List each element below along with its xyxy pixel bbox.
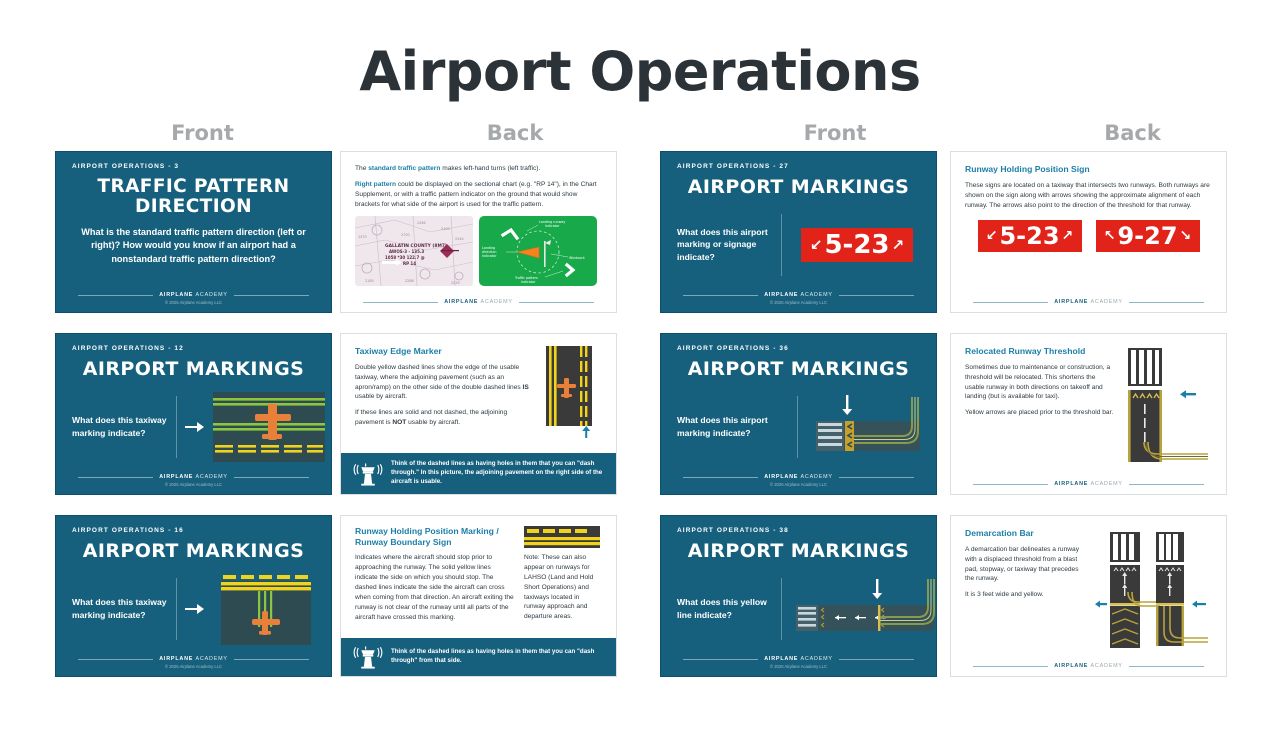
footer-rule-right <box>519 302 594 303</box>
arrow-left-down-icon: ↙ <box>986 228 998 244</box>
page-title: Airport Operations <box>0 0 1280 103</box>
grid-gap <box>625 515 660 677</box>
runway-holding-position-sign: ↙ 5-23 ↗ <box>801 228 913 262</box>
tip-text: Think of the dashed lines as having hole… <box>391 460 604 487</box>
brand-logo: AIRPLANE ACADEMY <box>764 474 833 480</box>
figure-demarcation-bar-pair <box>1094 528 1212 652</box>
taxiway-edge-marking-diagram <box>213 392 325 462</box>
copyright: © 2025 Airplane Academy LLC <box>56 300 331 305</box>
card-question: What does this taxiway marking indicate? <box>72 414 168 438</box>
card-ao-3-back[interactable]: The standard traffic pattern makes left-… <box>340 151 617 313</box>
arrow-left-icon <box>1095 601 1107 608</box>
card-question: What does this airport marking indicate? <box>677 414 789 438</box>
footer-rule-right <box>234 477 309 478</box>
svg-text:2288: 2288 <box>405 279 414 283</box>
tip-text: Think of the dashed lines as having hole… <box>391 648 604 666</box>
footer-rule-left <box>683 477 758 478</box>
card-title: AIRPORT MARKINGS <box>661 359 936 380</box>
figure-relocated-threshold <box>806 391 926 463</box>
column-header-front-1: Front <box>50 121 355 145</box>
card-question: What does this yellow line indicate? <box>677 596 773 620</box>
brand-logo: AIRPLANE ACADEMY <box>764 292 833 298</box>
card-kicker: AIRPORT OPERATIONS - 38 <box>661 516 936 534</box>
footer-rule-left <box>683 295 758 296</box>
back-paragraph-2: If these lines are solid and not dashed,… <box>355 408 532 428</box>
svg-text:indicator: indicator <box>482 254 497 258</box>
relocated-runway-threshold-diagram <box>1124 346 1210 470</box>
svg-text:1370: 1370 <box>358 235 367 239</box>
column-header-front-2: Front <box>690 121 980 145</box>
footer-rule-left <box>973 302 1048 303</box>
tip-banner: Think of the dashed lines as having hole… <box>341 453 616 494</box>
figure-taxiway-edge-vertical <box>540 346 602 438</box>
figure-holding-position-marking <box>213 573 319 645</box>
svg-text:indicator: indicator <box>545 224 560 228</box>
footer-rule-right <box>234 295 309 296</box>
back-heading: Demarcation Bar <box>965 528 1088 539</box>
figure-sign-row: ↙ 5-23 ↗ ↖ 9-27 ↘ <box>951 216 1226 252</box>
card-ao-3-front[interactable]: AIRPORT OPERATIONS - 3 TRAFFIC PATTERN D… <box>55 151 332 313</box>
svg-text:AWOS-3 - 135.3: AWOS-3 - 135.3 <box>389 249 424 254</box>
footer-rule-right <box>234 659 309 660</box>
card-footer: AIRPLANE ACADEMY © 2025 Airplane Academy… <box>56 474 331 487</box>
footer-rule-right <box>1129 484 1204 485</box>
footer-rule-right <box>1129 302 1204 303</box>
card-ao-12-back[interactable]: Taxiway Edge Marker Double yellow dashed… <box>340 333 617 495</box>
card-footer: AIRPLANE ACADEMY © 2025 Airplane Academy… <box>661 656 936 669</box>
footer-rule-left <box>78 477 153 478</box>
brand-logo: AIRPLANE ACADEMY <box>1054 663 1123 669</box>
demarcation-bar-diagram <box>1094 528 1210 652</box>
footer-rule-left <box>973 666 1048 667</box>
card-kicker: AIRPORT OPERATIONS - 3 <box>56 152 331 170</box>
card-title: AIRPORT MARKINGS <box>56 359 331 380</box>
copyright: © 2025 Airplane Academy LLC <box>56 482 331 487</box>
footer-rule-left <box>78 659 153 660</box>
card-question: What does this airport marking or signag… <box>677 226 773 263</box>
back-paragraph-1: Double yellow dashed lines show the edge… <box>355 363 532 403</box>
copyright: © 2025 Airplane Academy LLC <box>661 664 936 669</box>
back-heading: Runway Holding Position Marking / Runway… <box>355 526 514 547</box>
footer-rule-right <box>1129 666 1204 667</box>
arrow-left-down-icon: ↙ <box>810 236 823 254</box>
card-ao-16-back[interactable]: Runway Holding Position Marking / Runway… <box>340 515 617 677</box>
relocated-threshold-diagram <box>806 391 926 463</box>
divider <box>797 396 798 458</box>
control-tower-icon <box>353 462 383 486</box>
svg-text:indicator: indicator <box>521 280 536 284</box>
card-footer: AIRPLANE ACADEMY <box>951 299 1226 305</box>
control-tower-icon <box>353 645 383 669</box>
sign-text: 9-27 <box>1117 224 1177 248</box>
back-paragraph-1: The standard traffic pattern makes left-… <box>355 164 602 174</box>
card-kicker: AIRPORT OPERATIONS - 12 <box>56 334 331 352</box>
card-ao-16-front[interactable]: AIRPORT OPERATIONS - 16 AIRPORT MARKINGS… <box>55 515 332 677</box>
grid-gap <box>625 333 660 495</box>
footer-rule-left <box>363 302 438 303</box>
svg-text:2229: 2229 <box>451 281 460 285</box>
arrow-right-icon <box>185 604 205 614</box>
divider <box>781 578 782 640</box>
brand-logo: AIRPLANE ACADEMY <box>764 656 833 662</box>
back-paragraph-2: It is 3 feet wide and yellow. <box>965 590 1088 600</box>
card-footer: AIRPLANE ACADEMY <box>951 481 1226 487</box>
card-ao-38-front[interactable]: AIRPORT OPERATIONS - 38 AIRPORT MARKINGS… <box>660 515 937 677</box>
card-ao-38-back[interactable]: Demarcation Bar A demarcation bar deline… <box>950 515 1227 677</box>
column-header-back-2: Back <box>980 121 1280 145</box>
arrow-right-down-icon: ↘ <box>1180 228 1192 244</box>
copyright: © 2025 Airplane Academy LLC <box>56 664 331 669</box>
footer-rule-left <box>78 295 153 296</box>
back-paragraph-1: Indicates where the aircraft should stop… <box>355 553 514 622</box>
svg-text:Windsock: Windsock <box>569 256 585 260</box>
svg-text:1058 *30 122.7 @: 1058 *30 122.7 @ <box>385 255 425 260</box>
card-kicker: AIRPORT OPERATIONS - 16 <box>56 516 331 534</box>
footer-rule-right <box>839 477 914 478</box>
back-paragraph-2: Right pattern could be displayed on the … <box>355 180 602 210</box>
svg-text:2244: 2244 <box>455 237 464 241</box>
divider <box>176 578 177 640</box>
brand-logo: AIRPLANE ACADEMY <box>1054 481 1123 487</box>
figure-row: 137022642100 270022442185 22882229 GALLA… <box>341 216 616 286</box>
figure-runway-sign: ↙ 5-23 ↗ <box>790 228 924 262</box>
svg-text:RP 14: RP 14 <box>403 261 416 266</box>
card-footer: AIRPLANE ACADEMY © 2025 Airplane Academy… <box>661 474 936 487</box>
footer-rule-right <box>839 659 914 660</box>
footer-rule-right <box>839 295 914 296</box>
arrow-down-icon <box>842 395 852 415</box>
svg-text:2185: 2185 <box>365 279 374 283</box>
arrow-right-icon <box>185 422 205 432</box>
back-paragraph-2: Yellow arrows are placed prior to the th… <box>965 408 1116 418</box>
divider <box>781 214 782 276</box>
arrow-down-icon <box>872 579 882 599</box>
card-title: AIRPORT MARKINGS <box>661 177 936 198</box>
footer-rule-left <box>683 659 758 660</box>
runway-holding-position-sign-9-27: ↖ 9-27 ↘ <box>1096 220 1200 252</box>
brand-logo: AIRPLANE ACADEMY <box>444 299 513 305</box>
yellow-line-diagram <box>790 573 937 645</box>
copyright: © 2025 Airplane Academy LLC <box>661 482 936 487</box>
sectional-chart-figure: 137022642100 270022442185 22882229 GALLA… <box>355 216 473 286</box>
card-footer: AIRPLANE ACADEMY <box>341 299 616 305</box>
card-ao-36-back[interactable]: Relocated Runway Threshold Sometimes due… <box>950 333 1227 495</box>
arrow-up-icon <box>582 426 590 438</box>
footer-rule-left <box>973 484 1048 485</box>
figure-taxiway-edge-marking <box>213 392 325 462</box>
back-paragraph-1: A demarcation bar delineates a runway wi… <box>965 545 1088 585</box>
card-title: TRAFFIC PATTERN DIRECTION <box>56 177 331 217</box>
figure-relocated-threshold-vertical <box>1124 346 1212 470</box>
card-ao-27-front[interactable]: AIRPORT OPERATIONS - 27 AIRPORT MARKINGS… <box>660 151 937 313</box>
arrow-left-icon <box>1192 601 1206 608</box>
arrow-right-up-icon: ↗ <box>892 236 905 254</box>
divider <box>176 396 177 458</box>
card-kicker: AIRPORT OPERATIONS - 27 <box>661 152 936 170</box>
tip-banner: Think of the dashed lines as having hole… <box>341 638 616 676</box>
back-paragraph-1: Sometimes due to maintenance or construc… <box>965 363 1116 403</box>
card-prompt: What is the standard traffic pattern dir… <box>56 217 331 266</box>
card-footer: AIRPLANE ACADEMY © 2025 Airplane Academy… <box>661 292 936 305</box>
arrow-left-up-icon: ↖ <box>1104 228 1116 244</box>
brand-logo: AIRPLANE ACADEMY <box>159 656 228 662</box>
segmented-circle-figure: Landing runwayindicator Landingdirection… <box>479 216 597 286</box>
svg-text:2100: 2100 <box>441 227 450 231</box>
figure-demarcation-line <box>790 573 937 645</box>
card-footer: AIRPLANE ACADEMY <box>951 663 1226 669</box>
column-headers: Front Back Front Back <box>0 121 1280 145</box>
card-ao-12-front[interactable]: AIRPORT OPERATIONS - 12 AIRPORT MARKINGS… <box>55 333 332 495</box>
brand-logo: AIRPLANE ACADEMY <box>159 292 228 298</box>
sign-text: 5-23 <box>999 224 1059 248</box>
card-grid: AIRPORT OPERATIONS - 3 TRAFFIC PATTERN D… <box>0 151 1280 677</box>
arrow-right-up-icon: ↗ <box>1062 228 1074 244</box>
brand-logo: AIRPLANE ACADEMY <box>159 474 228 480</box>
flashcard-sheet: Airport Operations Front Back Front Back… <box>0 0 1280 744</box>
svg-text:2700: 2700 <box>401 233 410 237</box>
back-heading: Taxiway Edge Marker <box>355 346 532 357</box>
card-kicker: AIRPORT OPERATIONS - 36 <box>661 334 936 352</box>
back-heading: Runway Holding Position Sign <box>965 164 1212 175</box>
holding-position-marking-diagram <box>221 573 311 645</box>
back-side-note: Note: These can also appear on runways f… <box>524 553 602 622</box>
card-title: AIRPORT MARKINGS <box>661 541 936 562</box>
back-paragraph-1: These signs are located on a taxiway tha… <box>965 181 1212 211</box>
svg-text:2264: 2264 <box>417 221 426 225</box>
card-footer: AIRPLANE ACADEMY © 2025 Airplane Academy… <box>56 292 331 305</box>
card-ao-27-back[interactable]: Runway Holding Position Sign These signs… <box>950 151 1227 313</box>
sign-text: 5-23 <box>824 232 889 258</box>
runway-holding-position-sign-5-23: ↙ 5-23 ↗ <box>978 220 1082 252</box>
card-ao-36-front[interactable]: AIRPORT OPERATIONS - 36 AIRPORT MARKINGS… <box>660 333 937 495</box>
copyright: © 2025 Airplane Academy LLC <box>661 300 936 305</box>
runway-boundary-sign-figure <box>524 526 600 548</box>
arrow-left-icon <box>1180 390 1196 398</box>
back-heading: Relocated Runway Threshold <box>965 346 1116 357</box>
card-question: What does this taxiway marking indicate? <box>72 596 168 620</box>
card-title: AIRPORT MARKINGS <box>56 541 331 562</box>
grid-gap <box>625 151 660 313</box>
card-footer: AIRPLANE ACADEMY © 2025 Airplane Academy… <box>56 656 331 669</box>
column-header-back-1: Back <box>355 121 675 145</box>
taxiway-edge-marker-diagram <box>540 346 598 438</box>
brand-logo: AIRPLANE ACADEMY <box>1054 299 1123 305</box>
